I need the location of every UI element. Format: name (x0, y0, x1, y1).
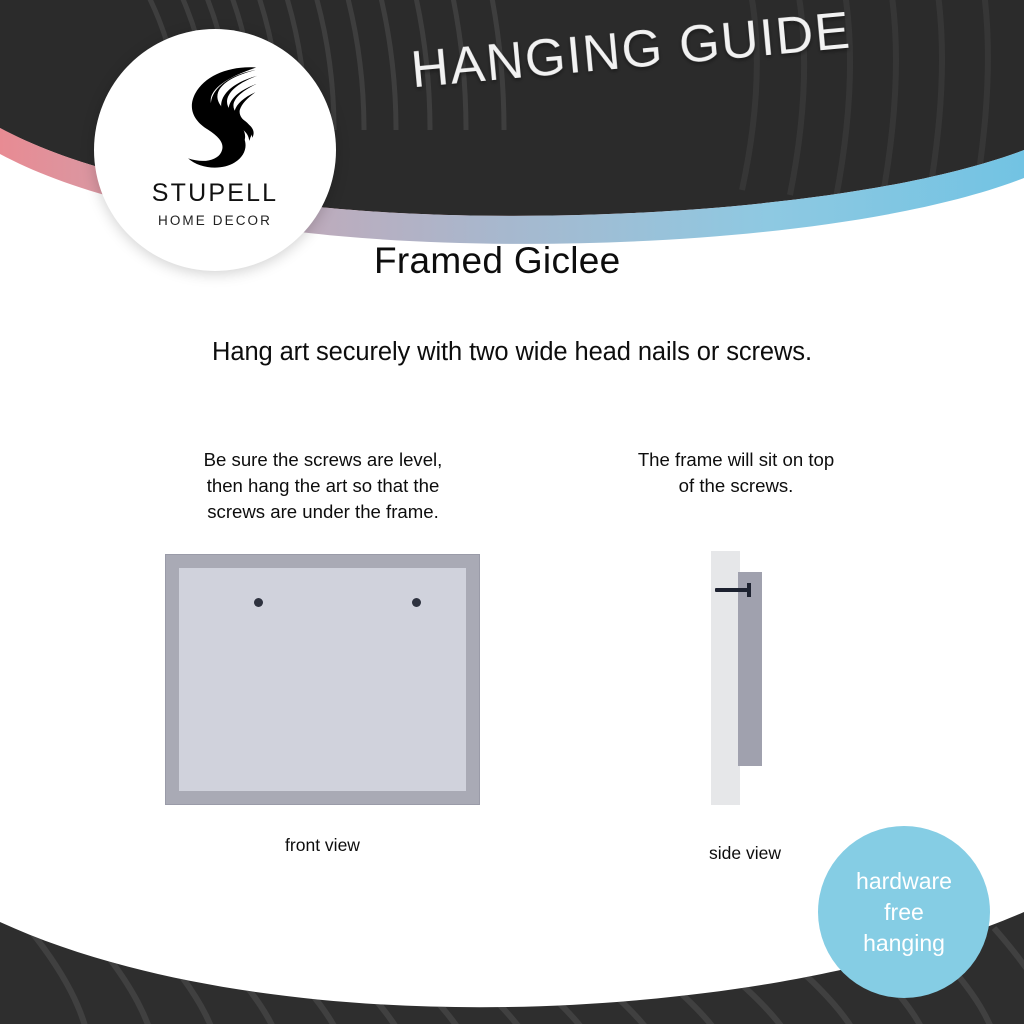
front-view-caption-line-2: then hang the art so that the (155, 473, 491, 499)
front-view-diagram (165, 554, 480, 805)
hardware-free-hanging-badge: hardware free hanging (818, 826, 990, 998)
brand-logo-badge: STUPELL HOME DECOR (94, 29, 336, 271)
side-view-label: side view (660, 843, 830, 864)
swirl-s-icon (153, 53, 277, 177)
front-view-art-panel (179, 568, 466, 791)
badge-line-1: hardware (856, 866, 952, 897)
badge-line-2: free (884, 897, 924, 928)
badge-line-3: hanging (863, 928, 945, 959)
main-instruction-text: Hang art securely with two wide head nai… (0, 338, 1024, 367)
front-view-caption: Be sure the screws are level, then hang … (155, 447, 491, 525)
front-view-caption-line-1: Be sure the screws are level, (155, 447, 491, 473)
side-view-caption-line-1: The frame will sit on top (591, 447, 881, 473)
logo-tagline: HOME DECOR (158, 213, 272, 228)
screw-dot-left-icon (254, 598, 263, 607)
side-view-frame (738, 572, 762, 766)
screw-dot-right-icon (412, 598, 421, 607)
side-view-diagram (690, 540, 800, 830)
side-view-caption: The frame will sit on top of the screws. (591, 447, 881, 499)
side-view-caption-line-2: of the screws. (591, 473, 881, 499)
product-title: Framed Giclee (374, 240, 621, 282)
front-view-label: front view (165, 835, 480, 856)
page-title: HANGING GUIDE (369, 0, 892, 104)
front-view-caption-line-3: screws are under the frame. (155, 499, 491, 525)
logo-wordmark: STUPELL (152, 179, 279, 208)
nail-head-icon (747, 583, 751, 597)
hanging-guide-page: HANGING GUIDE STUPELL HOME DECOR Framed … (0, 0, 1024, 1024)
nail-icon (715, 588, 749, 592)
